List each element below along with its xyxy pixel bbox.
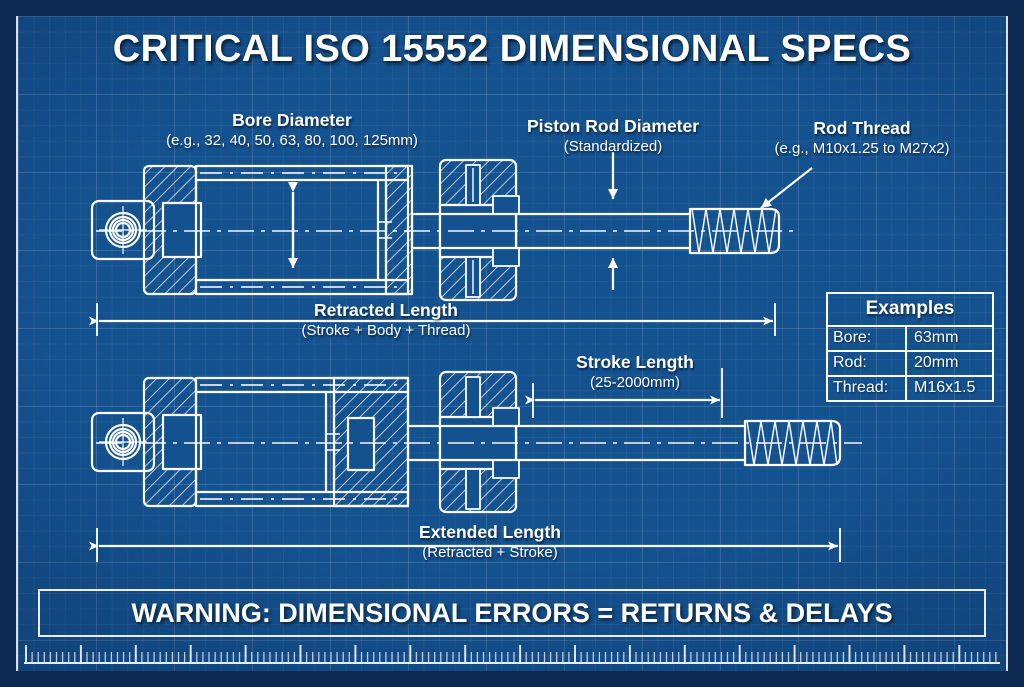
page-title: CRITICAL ISO 15552 DIMENSIONAL SPECS [0,28,1024,71]
blueprint-poster: CRITICAL ISO 15552 DIMENSIONAL SPECS Bor… [0,0,1024,687]
examples-key: Bore: [828,327,907,350]
retracted-label-note: (Stroke + Body + Thread) [236,321,536,340]
label-piston-rod-diameter: Piston Rod Diameter (Standardized) [498,116,728,156]
label-stroke-length: Stroke Length (25-2000mm) [530,352,740,392]
rod-label-title: Piston Rod Diameter [498,116,728,137]
examples-value: M16x1.5 [907,377,992,400]
warning-text: WARNING: DIMENSIONAL ERRORS = RETURNS & … [131,598,892,629]
examples-table: Examples Bore: 63mm Rod: 20mm Thread: M1… [826,292,994,402]
stroke-label-note: (25-2000mm) [530,373,740,392]
extended-label-note: (Retracted + Stroke) [345,543,635,562]
examples-key: Rod: [828,352,907,375]
label-rod-thread: Rod Thread (e.g., M10x1.25 to M27x2) [738,118,986,158]
examples-table-heading: Examples [828,294,992,327]
label-extended-length: Extended Length (Retracted + Stroke) [345,522,635,562]
table-row: Bore: 63mm [828,327,992,352]
table-row: Rod: 20mm [828,352,992,377]
label-bore-diameter: Bore Diameter (e.g., 32, 40, 50, 63, 80,… [132,110,452,150]
examples-value: 20mm [907,352,992,375]
thread-label-note: (e.g., M10x1.25 to M27x2) [738,139,986,158]
extended-label-title: Extended Length [345,522,635,543]
label-retracted-length: Retracted Length (Stroke + Body + Thread… [236,300,536,340]
warning-banner: WARNING: DIMENSIONAL ERRORS = RETURNS & … [38,589,986,637]
stroke-label-title: Stroke Length [530,352,740,373]
rod-label-note: (Standardized) [498,137,728,156]
examples-key: Thread: [828,377,907,400]
bore-label-title: Bore Diameter [132,110,452,131]
bore-label-note: (e.g., 32, 40, 50, 63, 80, 100, 125mm) [132,131,452,150]
examples-value: 63mm [907,327,992,350]
thread-label-title: Rod Thread [738,118,986,139]
table-row: Thread: M16x1.5 [828,377,992,400]
retracted-label-title: Retracted Length [236,300,536,321]
